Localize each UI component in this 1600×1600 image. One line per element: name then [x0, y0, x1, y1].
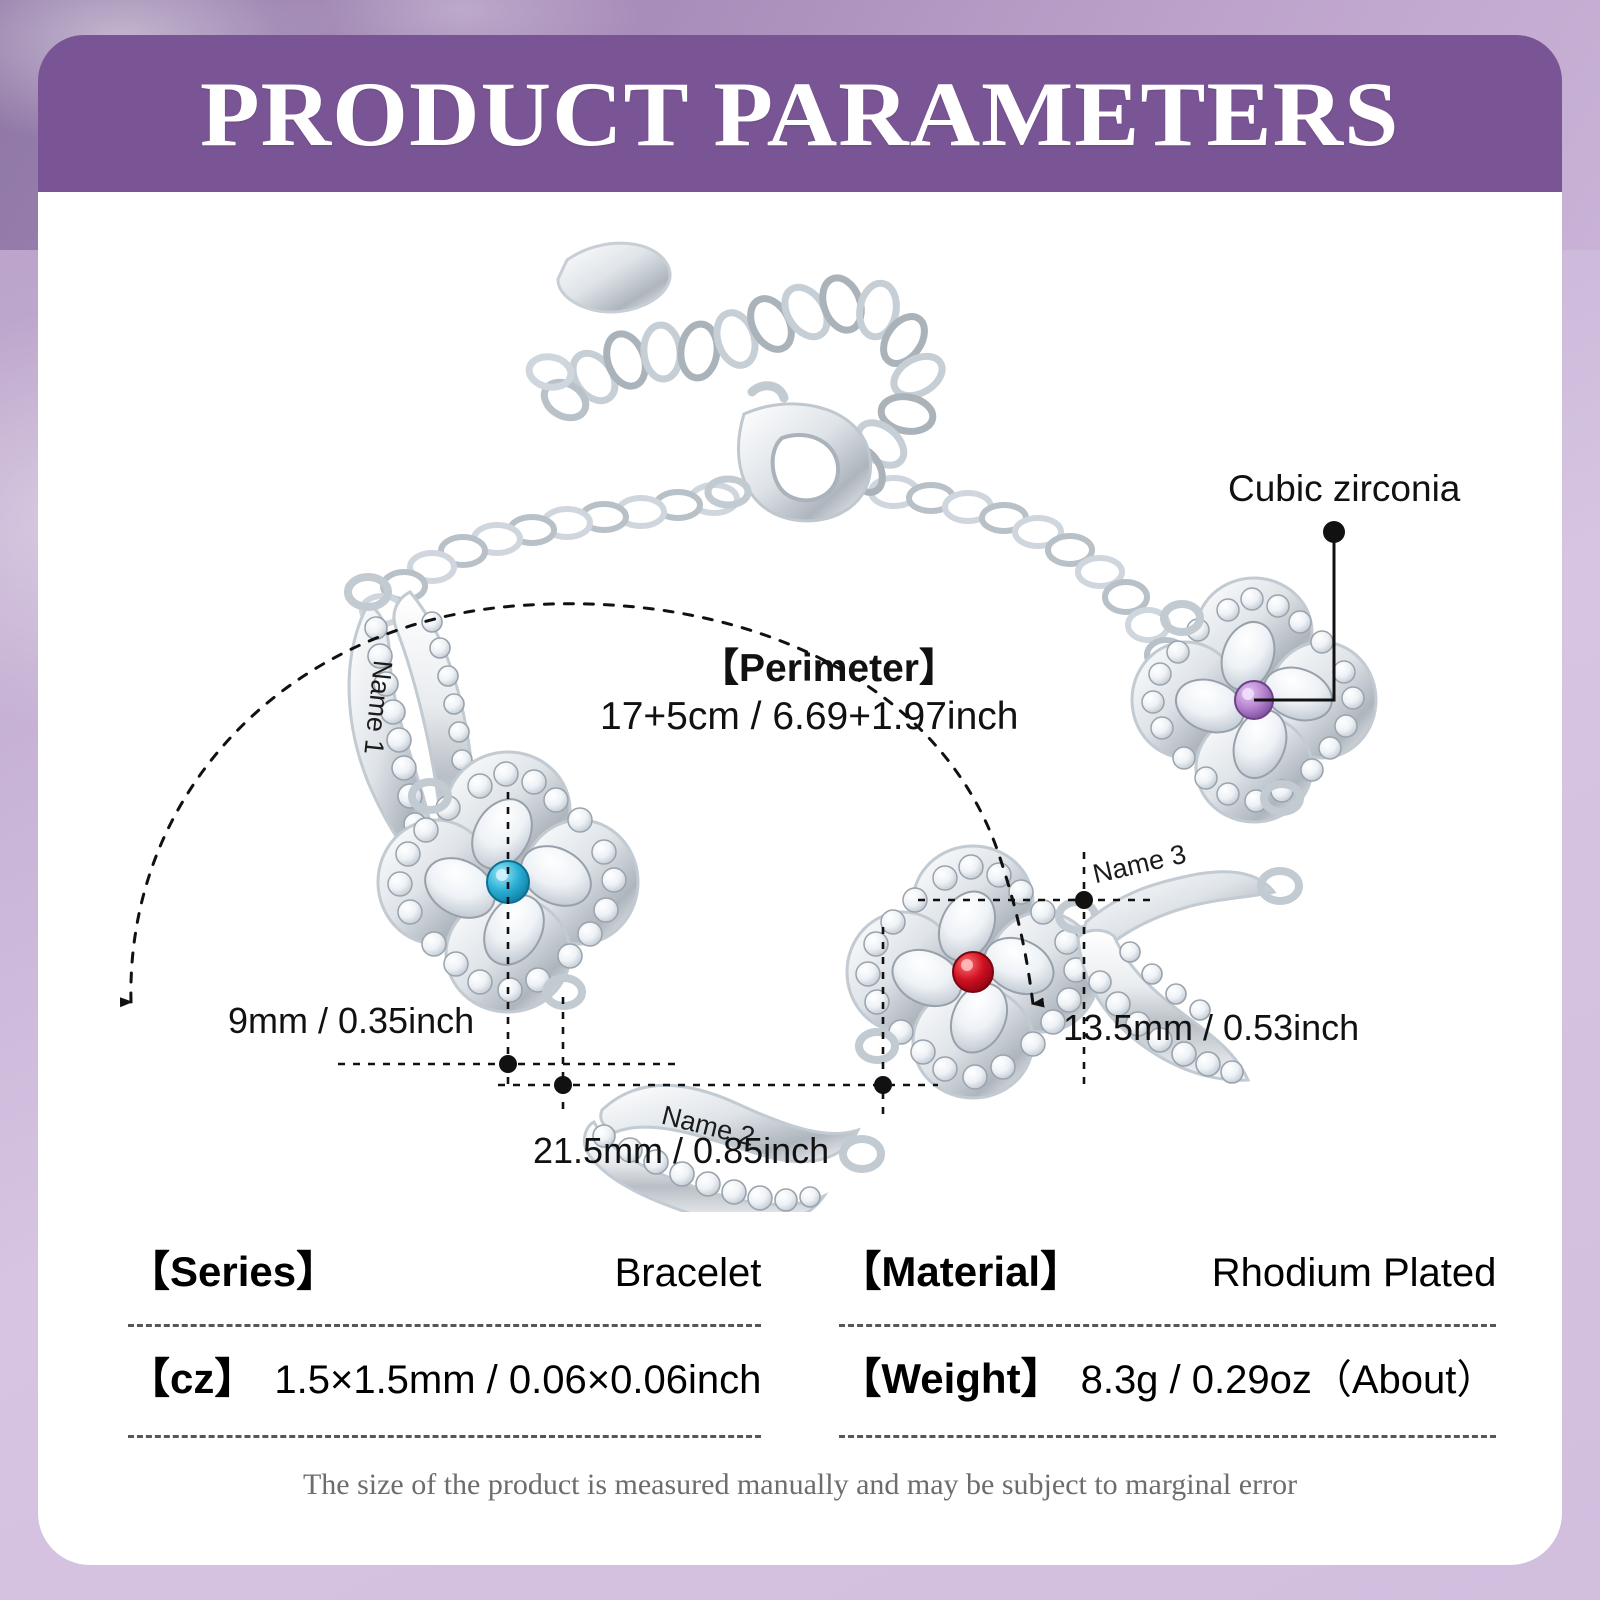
- spec-value-weight: 8.3g / 0.29oz（About）: [1081, 1347, 1497, 1405]
- perimeter-label: 【Perimeter】: [700, 637, 958, 693]
- spec-divider-left-1: [128, 1324, 761, 1327]
- spec-key-cz: 【cz】: [128, 1345, 256, 1406]
- callout-cubic-zirconia: Cubic zirconia: [1228, 468, 1460, 510]
- spec-divider-right-2: [839, 1435, 1496, 1438]
- spec-row-material: 【Material】 Rhodium Plated: [839, 1238, 1496, 1310]
- measurement-disclaimer: The size of the product is measured manu…: [0, 1468, 1600, 1502]
- spec-divider-left-2: [128, 1435, 761, 1438]
- page-title: PRODUCT PARAMETERS: [200, 68, 1399, 160]
- spec-key-series: 【Series】: [128, 1238, 338, 1299]
- dimension-charm-height: 9mm / 0.35inch: [228, 1000, 474, 1042]
- spec-column-left: 【Series】 Bracelet 【cz】 1.5×1.5mm / 0.06×…: [128, 1238, 761, 1456]
- spec-key-material: 【Material】: [839, 1238, 1082, 1299]
- spec-column-right: 【Material】 Rhodium Plated 【Weight】 8.3g …: [839, 1238, 1496, 1456]
- spec-key-weight: 【Weight】: [839, 1345, 1062, 1406]
- spec-row-weight: 【Weight】 8.3g / 0.29oz（About）: [839, 1345, 1496, 1417]
- dimension-link-width: 21.5mm / 0.85inch: [533, 1130, 829, 1172]
- spec-row-series: 【Series】 Bracelet: [128, 1238, 761, 1310]
- spec-value-material: Rhodium Plated: [1212, 1251, 1497, 1296]
- spec-table: 【Series】 Bracelet 【cz】 1.5×1.5mm / 0.06×…: [128, 1238, 1472, 1456]
- infographic-canvas: PRODUCT PARAMETERS: [0, 0, 1600, 1600]
- header-band: PRODUCT PARAMETERS: [38, 35, 1562, 192]
- dimension-charm-width: 13.5mm / 0.53inch: [1063, 1007, 1359, 1049]
- cz-leader-dot: [1323, 521, 1345, 543]
- perimeter-value: 17+5cm / 6.69+1.97inch: [600, 695, 1018, 739]
- spec-value-series: Bracelet: [615, 1251, 762, 1296]
- spec-divider-right-1: [839, 1324, 1496, 1327]
- spec-value-cz: 1.5×1.5mm / 0.06×0.06inch: [274, 1358, 761, 1403]
- spec-row-cz: 【cz】 1.5×1.5mm / 0.06×0.06inch: [128, 1345, 761, 1417]
